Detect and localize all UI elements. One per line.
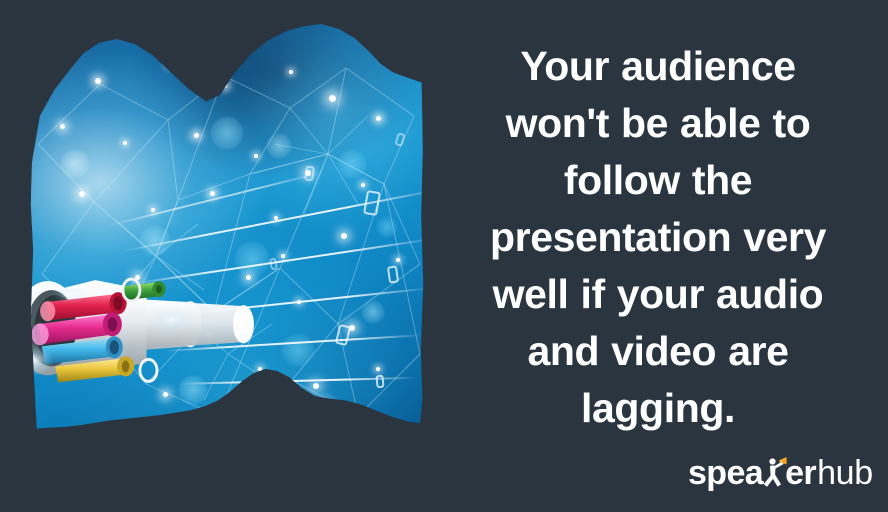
logo-text-er: er [785, 456, 816, 490]
torn-paper-photo-clip [28, 24, 424, 442]
slide-canvas: Your audience won't be able to follow th… [0, 0, 888, 512]
logo-text-hub: hub [817, 456, 873, 490]
speaker-person-megaphone-icon [762, 453, 787, 493]
headline-line-6: and video are [444, 323, 872, 380]
headline-line-2: won't be able to [444, 95, 872, 152]
headline-line-7: lagging. [444, 380, 872, 437]
headline-line-1: Your audience [444, 38, 872, 95]
headline-text: Your audience won't be able to follow th… [444, 38, 872, 437]
headline-line-3: follow the [444, 152, 872, 209]
hero-image-card [28, 24, 424, 442]
headline-line-5: well if your audio [444, 266, 872, 323]
logo-text-spea: spea [688, 456, 763, 490]
speakerhub-logo[interactable]: spea er hub [688, 452, 873, 494]
headline-line-4: presentation very [444, 209, 872, 266]
fiber-optic-cable [28, 250, 289, 400]
